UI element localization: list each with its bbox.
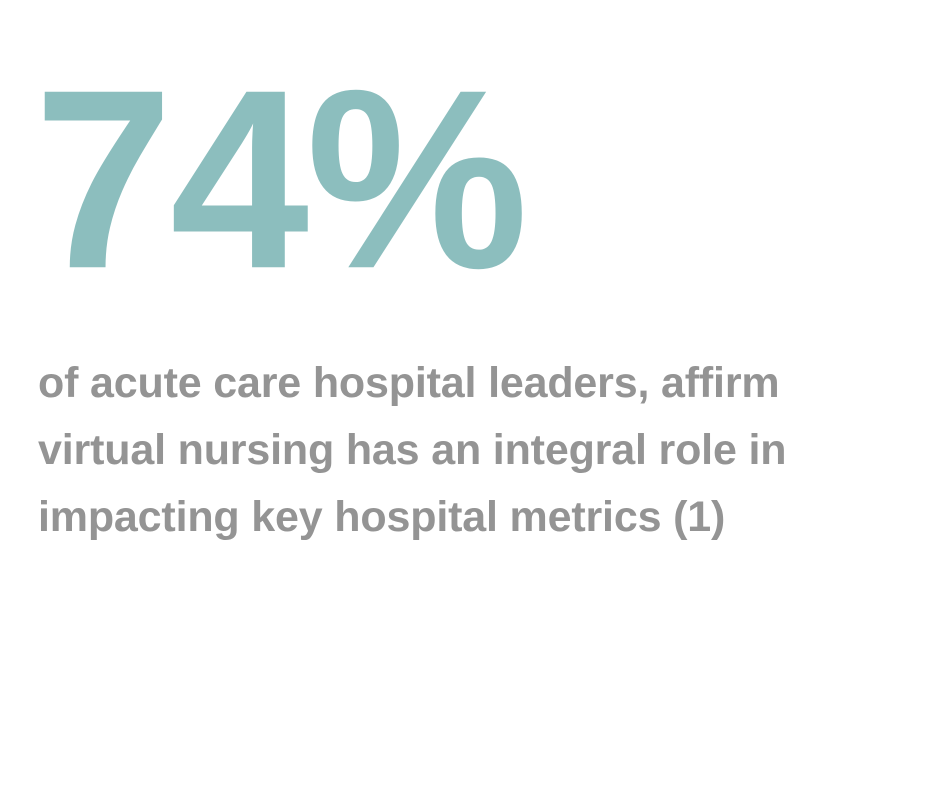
stat-percentage-figure: 74% <box>34 52 525 307</box>
statistic-callout-card: 74% of acute care hospital leaders, affi… <box>0 0 940 788</box>
stat-description-line-1: of acute care hospital leaders, affirm <box>38 350 848 417</box>
stat-description-line-3: impacting key hospital metrics (1) <box>38 484 848 551</box>
stat-description-line-2: virtual nursing has an integral role in <box>38 417 848 484</box>
stat-description-text: of acute care hospital leaders, affirm v… <box>38 350 848 551</box>
